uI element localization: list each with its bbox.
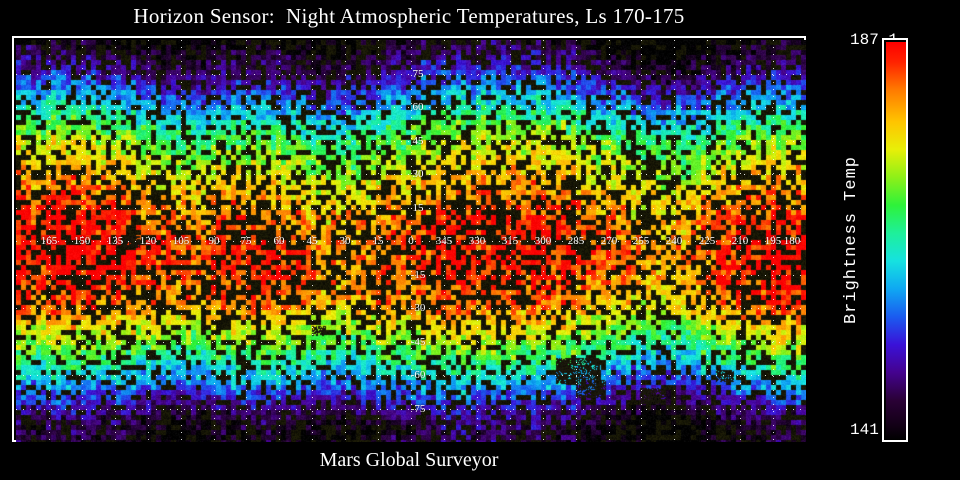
lat-tick-label--75: -75 [411, 403, 426, 415]
colorbar-axis-title: Brightness Temp [842, 156, 861, 324]
lon-tick-label-240: 240 [666, 235, 683, 247]
lat-tick-label-30: 30 [413, 168, 424, 180]
lon-tick-label-345: 345 [436, 235, 453, 247]
lon-tick-label-150: 150 [74, 235, 91, 247]
page-title: Horizon Sensor: Night Atmospheric Temper… [0, 4, 818, 29]
lon-tick-label-30: 30 [340, 235, 351, 247]
lat-tick-label-45: 45 [413, 135, 424, 147]
lon-tick-label-330: 330 [469, 235, 486, 247]
colorbar [882, 38, 908, 442]
lat-tick-label--60: -60 [411, 369, 426, 381]
lat-tick-label--30: -30 [411, 302, 426, 314]
colorbar-axis-title-wrap: Brightness Temp [836, 0, 866, 480]
lat-tick-label--45: -45 [411, 336, 426, 348]
lon-tick-label-60: 60 [274, 235, 285, 247]
lon-tick-label-270: 270 [601, 235, 618, 247]
lon-tick-label-120: 120 [140, 235, 157, 247]
lon-tick-label-15: 15 [373, 235, 384, 247]
footer-caption: Mars Global Surveyor [0, 449, 818, 472]
lon-tick-label-300: 300 [535, 235, 552, 247]
lon-tick-label-135: 135 [107, 235, 124, 247]
lon-tick-label-45: 45 [307, 235, 318, 247]
visualization-root: Horizon Sensor: Night Atmospheric Temper… [0, 0, 960, 480]
lon-tick-label-90: 90 [209, 235, 220, 247]
lon-tick-label-195: 195 [765, 235, 782, 247]
lat-tick-label-15: 15 [413, 202, 424, 214]
lat-tick-label-75: 75 [413, 68, 424, 80]
lon-tick-label-165: 165 [41, 235, 58, 247]
lat-tick-label-60: 60 [413, 101, 424, 113]
lon-tick-label-105: 105 [173, 235, 190, 247]
colorbar-gradient [886, 42, 906, 440]
lon-tick-label-255: 255 [633, 235, 650, 247]
lon-tick-label-225: 225 [699, 235, 716, 247]
lon-tick-label-0: 0 [408, 235, 414, 247]
lon-tick-label-315: 315 [502, 235, 519, 247]
lon-tick-label-210: 210 [732, 235, 749, 247]
map-plot-area: 7560453015-15-30-45-60-75165150135120105… [16, 40, 806, 442]
lon-tick-label-285: 285 [568, 235, 585, 247]
map-frame: 7560453015-15-30-45-60-75165150135120105… [12, 36, 806, 442]
lat-tick-label--15: -15 [411, 269, 426, 281]
lon-tick-label-75: 75 [241, 235, 252, 247]
lon-tick-label-180: 180 [784, 235, 801, 247]
